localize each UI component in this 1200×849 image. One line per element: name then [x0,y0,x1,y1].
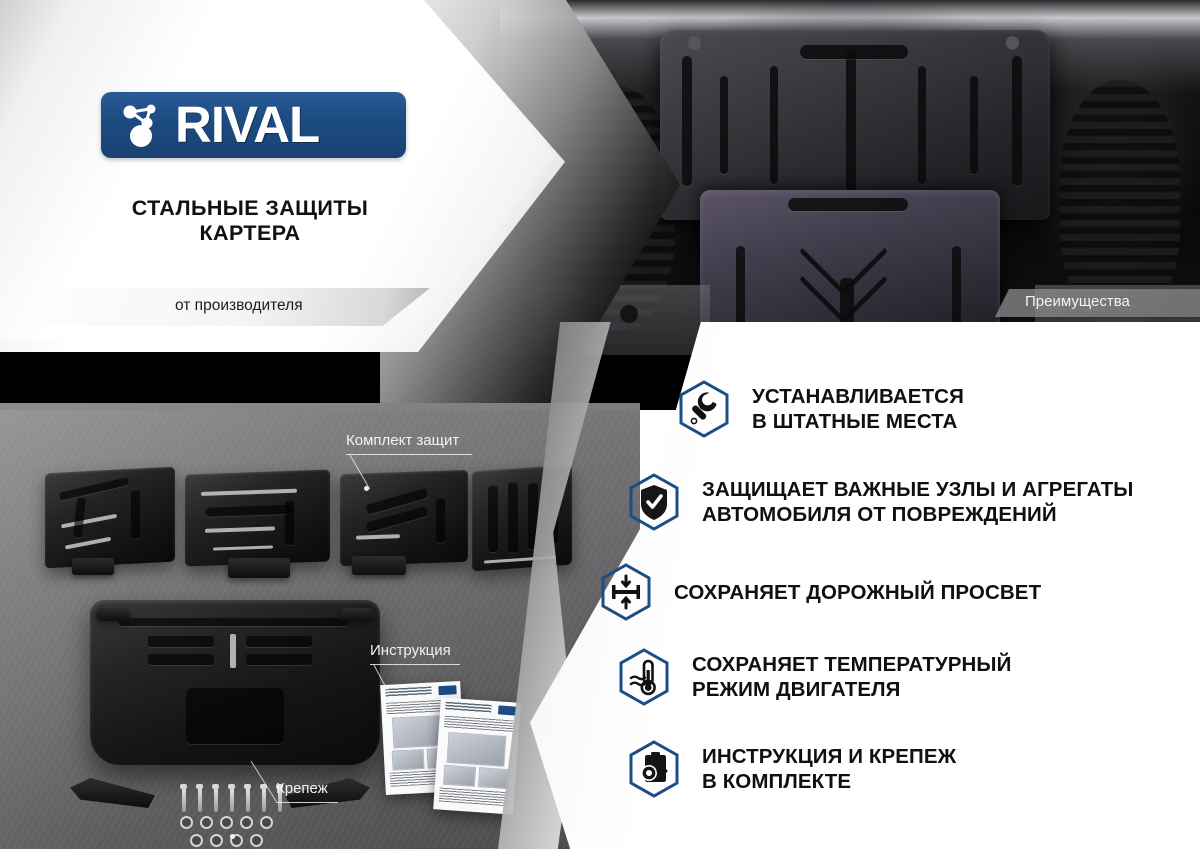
label-manual: Инструкция [370,642,451,659]
mounting-bracket-left [70,778,155,808]
benefit-row-5: ИНСТРУКЦИЯ И КРЕПЕЖ В КОМПЛЕКТЕ [628,740,956,798]
clipboard-hardware-icon [628,740,680,798]
label-hardware-dot [230,834,235,839]
benefit-2-line1: ЗАЩИЩАЕТ ВАЖНЫЕ УЗЛЫ И АГРЕГАТЫ [702,477,1133,502]
benefit-5-line1: ИНСТРУКЦИЯ И КРЕПЕЖ [702,744,956,769]
benefit-row-3: СОХРАНЯЕТ ДОРОЖНЫЙ ПРОСВЕТ [600,563,1041,621]
advantages-tab-label: Преимущества [1025,293,1130,310]
molecule-icon [119,100,171,150]
skid-plate-1 [45,467,175,569]
label-hardware-underline [276,802,338,803]
shield-check-icon [628,473,680,531]
benefit-row-4: СОХРАНЯЕТ ТЕМПЕРАТУРНЫЙ РЕЖИМ ДВИГАТЕЛЯ [618,648,1011,706]
label-kit: Комплект защит [346,432,459,449]
plate-1-tab [72,558,114,575]
label-hardware: Крепеж [276,780,328,797]
logo-wordmark: RIVAL [175,96,319,154]
label-kit-dot [364,486,369,491]
benefit-2-text: ЗАЩИЩАЕТ ВАЖНЫЕ УЗЛЫ И АГРЕГАТЫ АВТОМОБИ… [702,477,1133,527]
benefit-3-line1: СОХРАНЯЕТ ДОРОЖНЫЙ ПРОСВЕТ [674,580,1041,605]
rival-logo: RIVAL [101,92,406,158]
page-title-line1: СТАЛЬНЫЕ ЗАЩИТЫ [40,196,460,221]
page-title-line2: КАРТЕРА [40,221,460,246]
benefit-3-text: СОХРАНЯЕТ ДОРОЖНЫЙ ПРОСВЕТ [674,580,1041,605]
label-kit-underline [346,454,472,455]
benefit-4-line1: СОХРАНЯЕТ ТЕМПЕРАТУРНЫЙ [692,652,1011,677]
skid-plate-2 [185,469,330,566]
label-manual-underline [370,664,460,665]
wrench-icon [678,380,730,438]
page-title: СТАЛЬНЫЕ ЗАЩИТЫ КАРТЕРА [40,196,460,246]
ground-clearance-icon [600,563,652,621]
subtitle-bar: от производителя [35,288,430,326]
benefit-5-line2: В КОМПЛЕКТЕ [702,769,956,794]
plate-3-tab [352,556,406,575]
main-engine-guard [90,600,380,765]
skid-plate-3 [340,470,468,566]
subtitle-text: от производителя [175,297,303,315]
benefit-5-text: ИНСТРУКЦИЯ И КРЕПЕЖ В КОМПЛЕКТЕ [702,744,956,794]
rival-skid-plate-poster: RIVAL СТАЛЬНЫЕ ЗАЩИТЫ КАРТЕРА от произво… [0,0,1200,849]
benefit-row-2: ЗАЩИЩАЕТ ВАЖНЫЕ УЗЛЫ И АГРЕГАТЫ АВТОМОБИ… [628,473,1133,531]
benefit-4-line2: РЕЖИМ ДВИГАТЕЛЯ [692,677,1011,702]
benefit-2-line2: АВТОМОБИЛЯ ОТ ПОВРЕЖДЕНИЙ [702,502,1133,527]
thermometer-icon [618,648,670,706]
benefit-4-text: СОХРАНЯЕТ ТЕМПЕРАТУРНЫЙ РЕЖИМ ДВИГАТЕЛЯ [692,652,1011,702]
benefit-1-line2: В ШТАТНЫЕ МЕСТА [752,409,964,434]
benefit-row-1: УСТАНАВЛИВАЕТСЯ В ШТАТНЫЕ МЕСТА [678,380,964,438]
benefit-1-line1: УСТАНАВЛИВАЕТСЯ [752,384,964,409]
plate-2-tab [228,558,290,578]
advantages-tab: Преимущества [995,289,1200,317]
benefit-1-text: УСТАНАВЛИВАЕТСЯ В ШТАТНЫЕ МЕСТА [752,384,964,434]
